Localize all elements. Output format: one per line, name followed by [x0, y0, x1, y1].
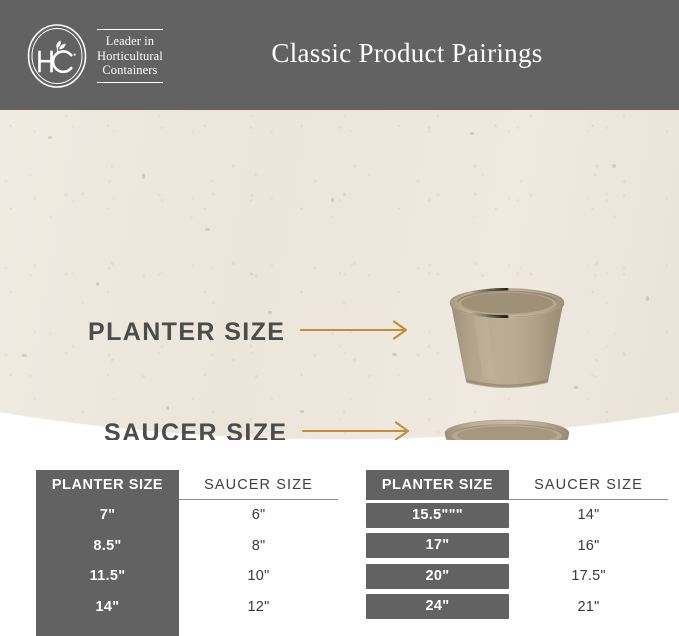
hero-panel: PLANTER SIZE SAUCER SIZE	[0, 110, 679, 440]
cell-saucer-size: 12"	[179, 599, 338, 615]
cell-planter-size: 20"	[366, 564, 509, 589]
size-tables: PLANTER SIZE SAUCER SIZE 7" 6" 8.5" 8" 1…	[0, 470, 679, 636]
table-row: 20" 17.5"	[366, 561, 668, 592]
cell-planter-size: 8.5"	[36, 538, 179, 554]
cell-saucer-size: 16"	[509, 538, 668, 554]
table-row: 8.5" 8"	[36, 531, 338, 562]
callout-saucer-label: SAUCER SIZE	[104, 419, 287, 440]
right-arrow-icon	[301, 420, 416, 440]
saucer-product-image	[437, 413, 577, 440]
table-body: 7" 6" 8.5" 8" 11.5" 10" 14" 12"	[36, 500, 338, 622]
table-row: 24" 21"	[366, 592, 668, 623]
cell-planter-size: 24"	[366, 594, 509, 619]
right-arrow-icon	[299, 319, 414, 346]
tagline-rule-top	[97, 29, 163, 30]
cell-saucer-size: 6"	[179, 507, 338, 523]
callout-planter-size: PLANTER SIZE	[88, 318, 414, 347]
header-band: Leader in Horticultural Containers Class…	[0, 0, 679, 110]
cell-saucer-size: 17.5"	[509, 568, 668, 584]
table-header-row: PLANTER SIZE SAUCER SIZE	[366, 470, 668, 500]
table-header-row: PLANTER SIZE SAUCER SIZE	[36, 470, 338, 500]
size-table-large: PLANTER SIZE SAUCER SIZE 15.5""" 14" 17"…	[366, 470, 668, 636]
cell-planter-size: 14"	[36, 599, 179, 615]
table-row: 11.5" 10"	[36, 561, 338, 592]
callout-saucer-size: SAUCER SIZE	[104, 419, 416, 440]
table-row: 17" 16"	[366, 531, 668, 562]
table-row: 14" 12"	[36, 592, 338, 623]
cell-planter-size: 17"	[366, 533, 509, 558]
hero-texture-background	[0, 110, 679, 440]
cell-planter-size: 15.5"""	[366, 503, 509, 528]
column-header-planter-size: PLANTER SIZE	[366, 470, 509, 500]
cell-planter-size: 11.5"	[36, 568, 179, 584]
table-row: 15.5""" 14"	[366, 500, 668, 531]
product-pairings-infographic: Leader in Horticultural Containers Class…	[0, 0, 679, 636]
planter-product-image	[437, 278, 577, 407]
cell-saucer-size: 8"	[179, 538, 338, 554]
cell-saucer-size: 14"	[509, 507, 668, 523]
cell-saucer-size: 21"	[509, 599, 668, 615]
size-table-small: PLANTER SIZE SAUCER SIZE 7" 6" 8.5" 8" 1…	[36, 470, 338, 636]
column-header-saucer-size: SAUCER SIZE	[179, 470, 338, 500]
table-body: 15.5""" 14" 17" 16" 20" 17.5" 24" 21"	[366, 500, 668, 622]
cell-planter-size: 7"	[36, 507, 179, 523]
tagline-rule-bottom	[97, 82, 163, 83]
table-row: 7" 6"	[36, 500, 338, 531]
callout-planter-label: PLANTER SIZE	[88, 318, 285, 347]
page-title: Classic Product Pairings	[0, 38, 679, 69]
column-header-saucer-size: SAUCER SIZE	[509, 470, 668, 500]
cell-saucer-size: 10"	[179, 568, 338, 584]
column-header-planter-size: PLANTER SIZE	[36, 470, 179, 500]
